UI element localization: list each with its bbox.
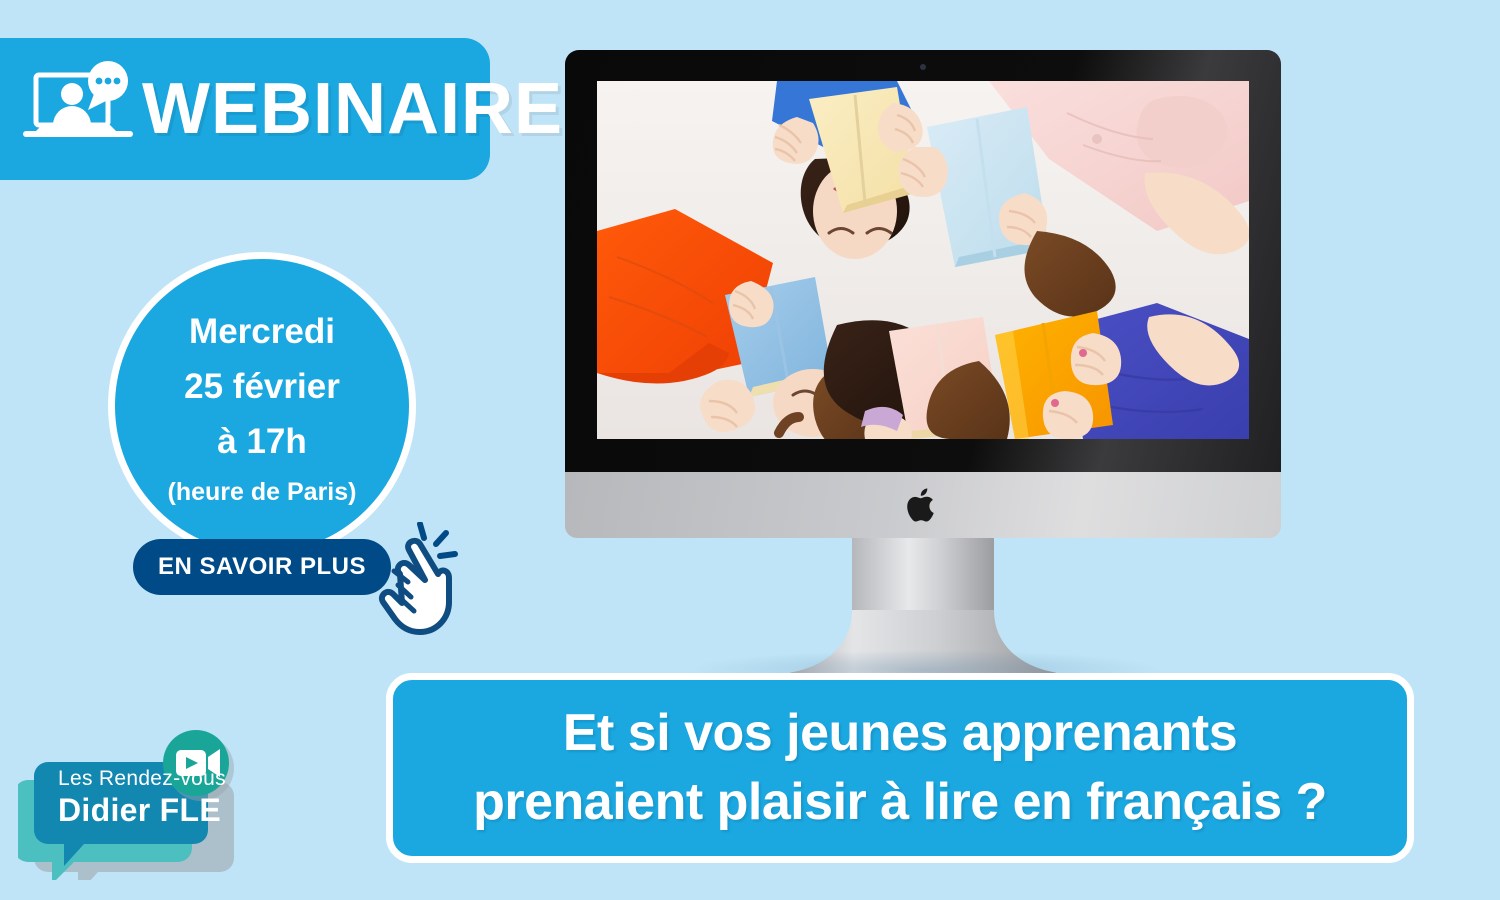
screen-photo-children-reading (597, 81, 1249, 439)
tagline-line-1: Et si vos jeunes apprenants (563, 699, 1237, 768)
imac-chin (565, 472, 1281, 538)
event-time: à 17h (217, 414, 307, 469)
webinar-laptop-icon (20, 61, 136, 157)
webinar-promo-poster: WEBINAIRE Mercredi 25 février à 17h (heu… (0, 0, 1500, 900)
logo-text-block: Les Rendez-vous Didier FLE (58, 768, 218, 826)
logo-line-1: Les Rendez-vous (58, 768, 218, 789)
imac-screen (597, 81, 1249, 439)
logo-line-2: Didier FLE (58, 794, 218, 826)
event-day: Mercredi (189, 304, 335, 359)
tagline-line-2: prenaient plaisir à lire en français ? (473, 768, 1327, 837)
imac-computer (565, 50, 1281, 650)
webinaire-title: WEBINAIRE (142, 73, 563, 145)
imac-bezel (565, 50, 1281, 472)
apple-logo-icon (907, 486, 939, 524)
didier-fle-logo[interactable]: Les Rendez-vous Didier FLE (18, 728, 238, 880)
webinaire-banner: WEBINAIRE (0, 38, 490, 180)
event-date-circle: Mercredi 25 février à 17h (heure de Pari… (108, 252, 416, 560)
pointing-hand-cursor-icon (378, 522, 470, 638)
event-date: 25 février (184, 359, 340, 414)
webcam-icon (920, 64, 926, 70)
tagline-banner: Et si vos jeunes apprenants prenaient pl… (386, 673, 1414, 863)
en-savoir-plus-button[interactable]: EN SAVOIR PLUS (133, 539, 391, 595)
event-timezone: (heure de Paris) (168, 476, 357, 509)
